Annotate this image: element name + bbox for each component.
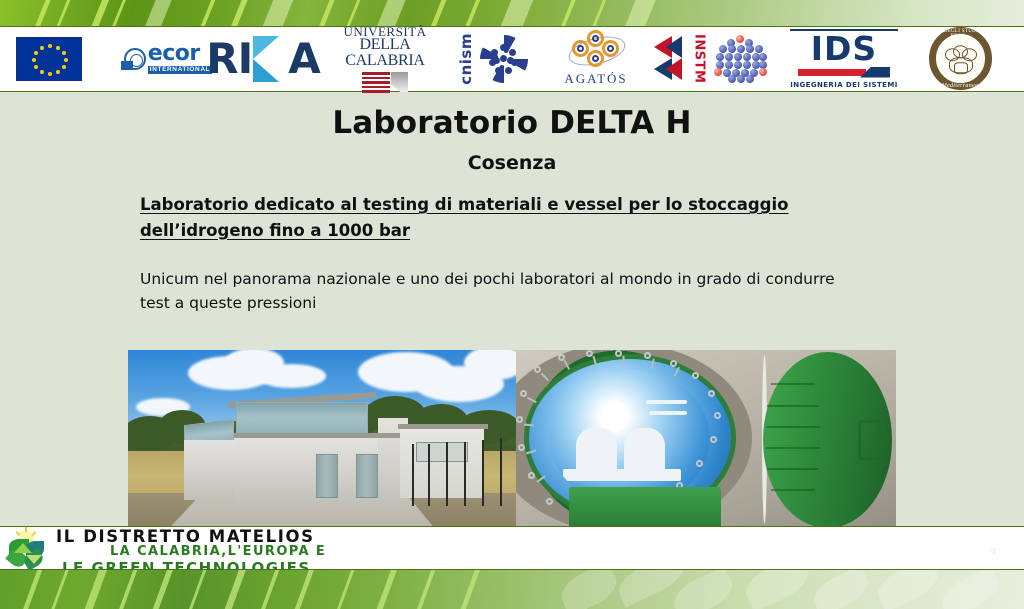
logo-rina: RI A <box>198 27 328 90</box>
rina-wordmark-right: A <box>288 38 320 80</box>
mediterranea-arc-top: ··A DEGLI STUDI DI REGG·· <box>929 29 992 39</box>
ids-subtitle: INGEGNERIA DEI SISTEMI <box>790 81 897 89</box>
logo-cnism: cnism <box>452 27 532 90</box>
logo-instm: INSTM <box>652 27 770 90</box>
footer-bar: IL DISTRETTO MATELIOS LA CALABRIA,L'EURO… <box>0 526 1024 570</box>
slide-title: Laboratorio DELTA H <box>0 105 1024 141</box>
unical-emblem-icon <box>362 72 408 92</box>
instm-molecule-icon <box>711 35 769 81</box>
vessel-door-panel <box>763 352 892 528</box>
rina-wordmark-left: RI <box>206 38 252 80</box>
agatos-wordmark: AGATÓS <box>564 71 627 87</box>
rina-arrow-icon <box>253 36 287 82</box>
logo-eu-flag <box>14 27 84 90</box>
photo-strip <box>128 350 896 533</box>
ids-wordmark: IDS <box>790 29 897 65</box>
footer-line-1: IL DISTRETTO MATELIOS <box>56 528 326 545</box>
vessel-loading-cart <box>569 487 721 527</box>
ecor-globe-icon <box>124 48 146 70</box>
ids-stripe-icon <box>798 67 890 78</box>
footer-line-2: LA CALABRIA,L'EUROPA E <box>110 545 326 559</box>
unical-line2: DELLA CALABRIA <box>324 37 446 69</box>
top-decorative-banner <box>0 0 1024 26</box>
photo-pressure-vessel <box>516 350 896 533</box>
instm-wordmark: INSTM <box>692 34 707 83</box>
matelios-recycling-logo-icon <box>6 529 50 569</box>
mediterranea-seal-icon: ··A DEGLI STUDI DI REGG·· Mediterranea <box>929 27 992 90</box>
slide-body-heading: Laboratorio dedicato al testing di mater… <box>140 192 880 243</box>
slide-body-heading-text: Laboratorio dedicato al testing di mater… <box>140 195 788 240</box>
cnism-wordmark: cnism <box>457 33 475 85</box>
cnism-swirl-icon <box>480 35 528 83</box>
page-number: 9 <box>991 547 996 557</box>
logo-universita-mediterranea: ··A DEGLI STUDI DI REGG·· Mediterranea <box>910 27 1010 90</box>
eu-flag-icon <box>16 37 82 81</box>
bottom-decorative-banner <box>0 570 1024 609</box>
logo-agatos: AGATÓS <box>556 27 636 90</box>
partner-logo-bar: ecor INTERNATIONAL RI A UNIVERSITÀ DELLA… <box>0 26 1024 92</box>
presentation-slide: ecor INTERNATIONAL RI A UNIVERSITÀ DELLA… <box>0 0 1024 609</box>
vessel-door-handle <box>858 420 882 460</box>
instm-chevron-icon <box>654 36 688 80</box>
logo-universita-della-calabria: UNIVERSITÀ DELLA CALABRIA <box>324 27 446 90</box>
footer-text-block: IL DISTRETTO MATELIOS LA CALABRIA,L'EURO… <box>56 528 326 576</box>
slide-body-text: Unicum nel panorama nazionale e uno dei … <box>140 267 840 315</box>
photo-lab-building <box>128 350 516 533</box>
logo-ids: IDS INGEGNERIA DEI SISTEMI <box>784 27 904 90</box>
mediterranea-arc-bottom: Mediterranea <box>929 83 992 89</box>
slide-subtitle: Cosenza <box>0 152 1024 174</box>
agatos-spirals-icon <box>568 30 624 70</box>
